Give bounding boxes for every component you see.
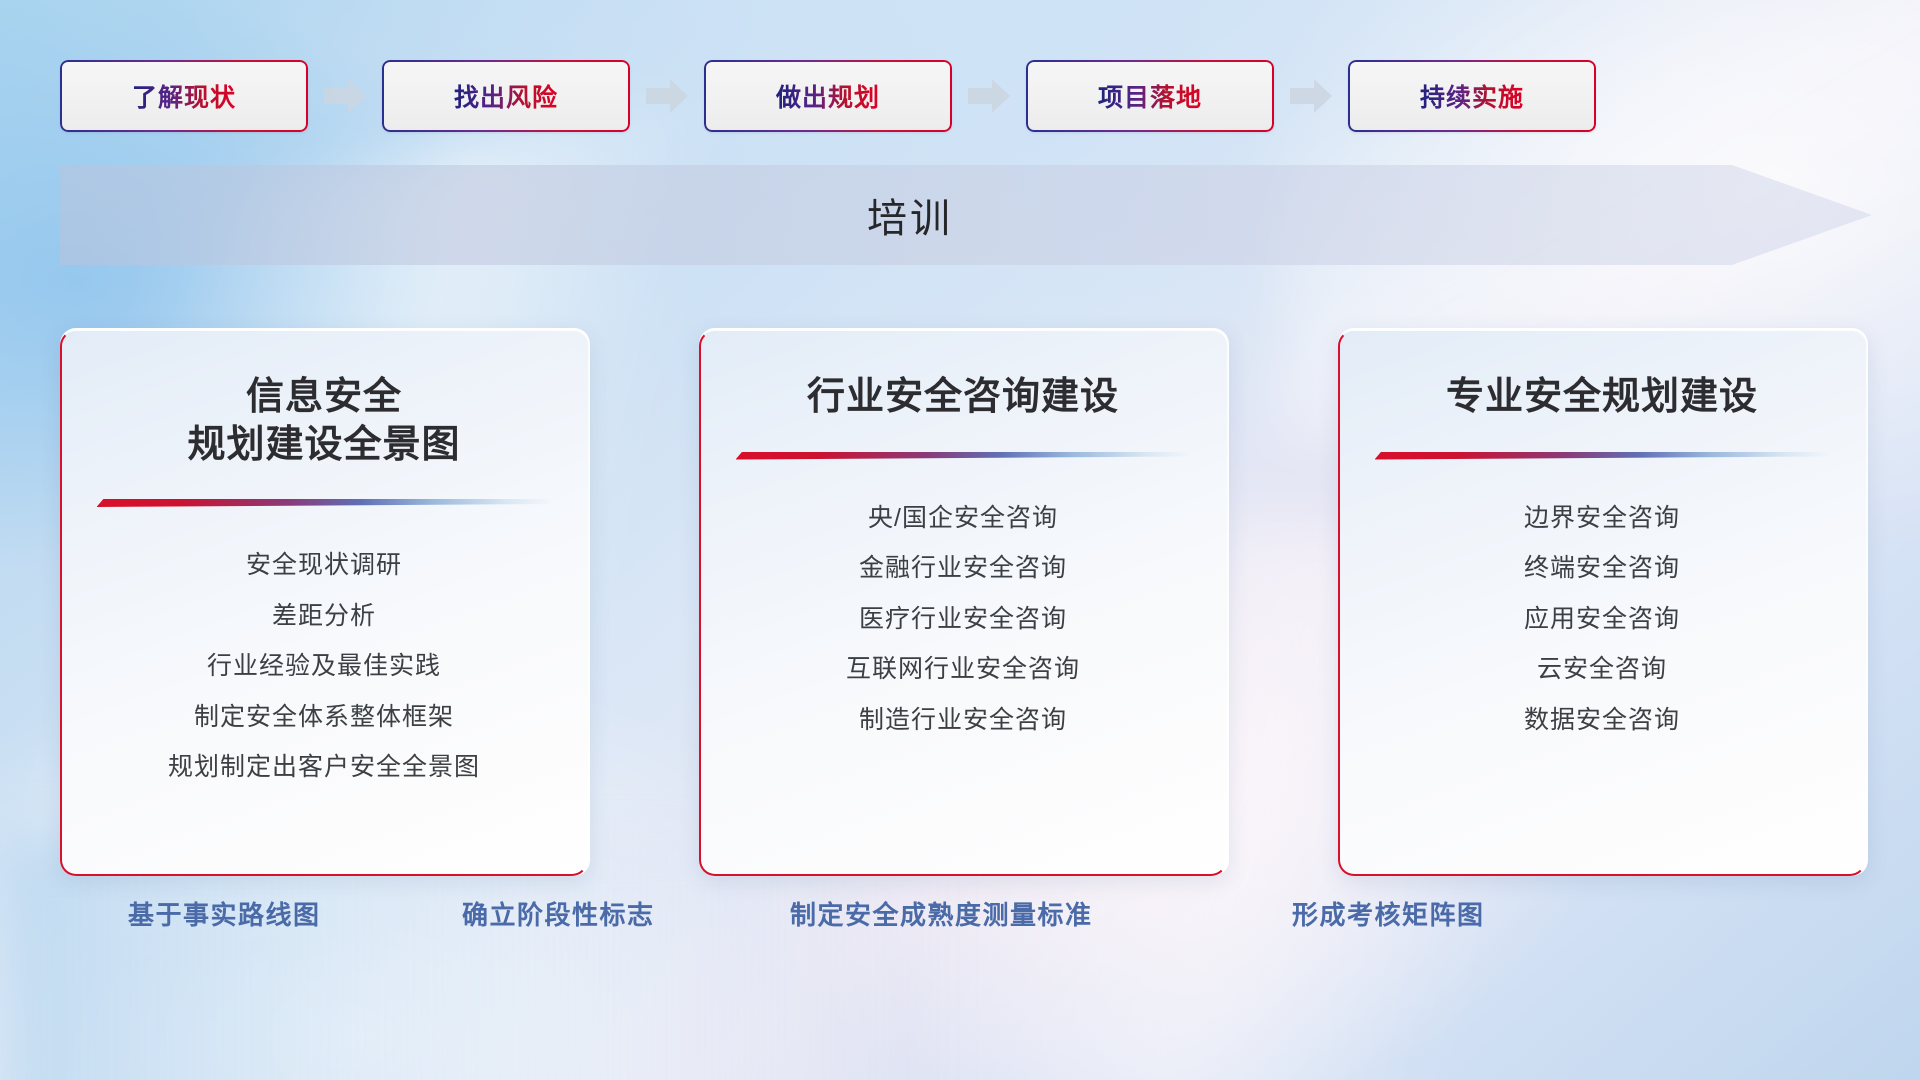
list-item: 数据安全咨询 <box>1524 704 1680 737</box>
list-item: 云安全咨询 <box>1537 653 1667 686</box>
service-card-list: 央/国企安全咨询金融行业安全咨询医疗行业安全咨询互联网行业安全咨询制造行业安全咨… <box>846 502 1080 737</box>
card-divider <box>97 499 552 507</box>
card-divider <box>736 452 1191 460</box>
card-row: 信息安全 规划建设全景图安全现状调研差距分析行业经验及最佳实践制定安全体系整体框… <box>60 328 1868 884</box>
list-item: 行业经验及最佳实践 <box>207 650 441 683</box>
process-step-1[interactable]: 了解现状 <box>60 60 308 132</box>
service-card-1[interactable]: 信息安全 规划建设全景图安全现状调研差距分析行业经验及最佳实践制定安全体系整体框… <box>60 328 590 876</box>
arrow-right-icon <box>968 79 1010 113</box>
arrow-right-icon <box>1290 79 1332 113</box>
card-divider <box>1375 452 1830 460</box>
service-card-title: 信息安全 规划建设全景图 <box>187 374 460 469</box>
list-item: 安全现状调研 <box>246 549 402 582</box>
service-card-list: 边界安全咨询终端安全咨询应用安全咨询云安全咨询数据安全咨询 <box>1524 502 1680 737</box>
list-item: 终端安全咨询 <box>1524 552 1680 585</box>
arrow-right-icon <box>324 79 366 113</box>
service-card-body: 信息安全 规划建设全景图安全现状调研差距分析行业经验及最佳实践制定安全体系整体框… <box>60 330 588 876</box>
process-step-label: 找出风险 <box>454 78 558 114</box>
training-banner: 培训 <box>60 165 1872 265</box>
arrow-right-icon <box>646 79 688 113</box>
service-card-2[interactable]: 行业安全咨询建设央/国企安全咨询金融行业安全咨询医疗行业安全咨询互联网行业安全咨… <box>699 328 1229 876</box>
list-item: 制定安全体系整体框架 <box>194 701 454 734</box>
process-step-3[interactable]: 做出规划 <box>704 60 952 132</box>
list-item: 规划制定出客户安全全景图 <box>168 751 480 784</box>
footer-caption-3: 制定安全成熟度测量标准 <box>790 895 1093 932</box>
service-card-title: 专业安全规划建设 <box>1446 374 1758 422</box>
list-item: 应用安全咨询 <box>1524 603 1680 636</box>
footer-caption-4: 形成考核矩阵图 <box>1292 895 1485 932</box>
list-item: 制造行业安全咨询 <box>859 704 1067 737</box>
process-step-strip: 了解现状找出风险做出规划项目落地持续实施 <box>60 58 1868 134</box>
banner-title: 培训 <box>60 165 1760 265</box>
process-step-5[interactable]: 持续实施 <box>1348 60 1596 132</box>
process-step-2[interactable]: 找出风险 <box>382 60 630 132</box>
service-card-title: 行业安全咨询建设 <box>807 374 1119 422</box>
process-step-label: 做出规划 <box>776 78 880 114</box>
list-item: 医疗行业安全咨询 <box>859 603 1067 636</box>
process-step-label: 了解现状 <box>132 78 236 114</box>
list-item: 互联网行业安全咨询 <box>846 653 1080 686</box>
footer-caption-1: 基于事实路线图 <box>128 895 321 932</box>
list-item: 差距分析 <box>272 600 376 633</box>
process-step-label: 项目落地 <box>1098 78 1202 114</box>
process-step-label: 持续实施 <box>1420 78 1524 114</box>
service-card-3[interactable]: 专业安全规划建设边界安全咨询终端安全咨询应用安全咨询云安全咨询数据安全咨询 <box>1338 328 1868 876</box>
list-item: 边界安全咨询 <box>1524 502 1680 535</box>
service-card-body: 专业安全规划建设边界安全咨询终端安全咨询应用安全咨询云安全咨询数据安全咨询 <box>1338 330 1866 876</box>
list-item: 金融行业安全咨询 <box>859 552 1067 585</box>
list-item: 央/国企安全咨询 <box>868 502 1058 535</box>
footer-caption-2: 确立阶段性标志 <box>462 895 655 932</box>
service-card-body: 行业安全咨询建设央/国企安全咨询金融行业安全咨询医疗行业安全咨询互联网行业安全咨… <box>699 330 1227 876</box>
service-card-list: 安全现状调研差距分析行业经验及最佳实践制定安全体系整体框架规划制定出客户安全全景… <box>168 549 480 784</box>
footer-caption-row: 基于事实路线图确立阶段性标志制定安全成熟度测量标准形成考核矩阵图 <box>0 895 1920 945</box>
slide-canvas: 了解现状找出风险做出规划项目落地持续实施 培训 信息安全 规划建设全景图安全现状… <box>0 0 1920 1080</box>
process-step-4[interactable]: 项目落地 <box>1026 60 1274 132</box>
